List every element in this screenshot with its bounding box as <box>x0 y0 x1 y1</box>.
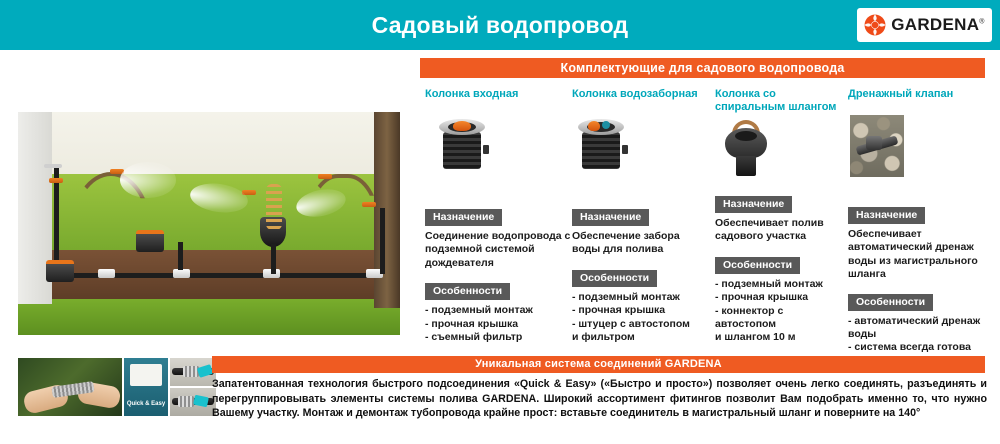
page-title: Садовый водопровод <box>0 0 1000 50</box>
feature-item: воды <box>848 328 988 341</box>
product-stem <box>736 156 756 176</box>
product-opening <box>735 131 757 141</box>
section-banner: Комплектующие для садового водопровода <box>420 58 985 78</box>
purpose-label-2: Назначение <box>572 209 649 226</box>
product-outlet-nub <box>622 145 628 154</box>
purpose-label-1: Назначение <box>425 209 502 226</box>
gardena-logo-text: GARDENA® <box>891 15 985 35</box>
product-title-4: Дренажный клапан <box>848 88 988 101</box>
hero-water-spray <box>120 162 176 198</box>
purpose-label-3: Назначение <box>715 196 792 213</box>
product-title-2: Колонка водозаборная <box>572 88 707 101</box>
feature-item: - подземный монтаж <box>715 278 843 291</box>
purpose-text-2: Обеспечение забора воды для полива <box>572 230 707 257</box>
hero-pipe-fitting <box>98 269 115 278</box>
hero-intake-column <box>136 230 164 252</box>
features-label-4: Особенности <box>848 294 933 311</box>
feature-item: - штуцер с автостопом <box>572 318 707 331</box>
hero-riser <box>380 208 385 274</box>
thumbnail-hands-connector <box>18 358 122 416</box>
feature-item: - съемный фильтр <box>425 331 575 344</box>
features-label-2: Особенности <box>572 270 657 287</box>
purpose-text-1: Соединение водопровода с подземной систе… <box>425 230 575 270</box>
product-column-2: Колонка водозаборная Назначение Обеспече… <box>572 88 707 344</box>
product-teal-fitting <box>602 121 610 129</box>
features-label-3: Особенности <box>715 257 800 274</box>
product-image-inlet-column <box>425 119 575 201</box>
product-column-4: Дренажный клапан Назначение Обеспечивает… <box>848 88 988 368</box>
gardena-flower-icon <box>864 14 886 36</box>
hero-inlet-column <box>46 260 74 282</box>
product-column-1: Колонка входная Назначение Соединение во… <box>425 88 575 344</box>
product-title-3: Колонка со спиральным шлангом <box>715 88 843 114</box>
hero-tap <box>44 164 62 168</box>
thumbnail-connector-closeup-2 <box>170 388 216 416</box>
gardena-logo: GARDENA® <box>857 8 992 42</box>
feature-item: и фильтром <box>572 331 707 344</box>
product-image-water-intake-column <box>572 119 707 201</box>
feature-item: - прочная крышка <box>572 304 707 317</box>
teal-fitting <box>197 364 213 378</box>
product-orange-insert <box>453 121 471 131</box>
feature-item: - система всегда готова <box>848 341 988 354</box>
purpose-text-3: Обеспечивает полив садового участка <box>715 217 843 244</box>
product-body <box>443 132 481 169</box>
footer-paragraph: Запатентованная технология быстрого подс… <box>212 377 987 421</box>
product-image-spiral-hose-column <box>715 120 843 188</box>
feature-item: - прочная крышка <box>715 291 843 304</box>
logo-wordmark: GARDENA <box>891 15 979 34</box>
thumbnail-quick-easy-badge: Quick & Easy <box>124 358 168 416</box>
hero-illustration <box>18 112 400 335</box>
feature-item: - подземный монтаж <box>572 291 707 304</box>
badge-illustration <box>130 364 162 386</box>
product-outlet-nub <box>483 145 489 154</box>
hero-riser <box>271 244 276 274</box>
product-orange-insert <box>588 121 600 131</box>
hero-riser <box>178 242 183 270</box>
teal-fitting <box>193 395 209 408</box>
feature-item: - прочная крышка <box>425 318 575 331</box>
hero-foreground-grass <box>18 299 400 335</box>
feature-item: и шлангом 10 м <box>715 331 843 344</box>
connector-grip <box>178 396 194 407</box>
features-list-3: - подземный монтаж - прочная крышка - ко… <box>715 278 843 345</box>
hero-sprayer <box>318 174 332 179</box>
features-label-1: Особенности <box>425 283 510 300</box>
registered-mark: ® <box>979 18 984 25</box>
hero-spiral-hose <box>266 184 282 230</box>
product-column-3: Колонка со спиральным шлангом Назначение… <box>715 88 843 345</box>
feature-item: - автоматический дренаж <box>848 315 988 328</box>
page-header: Садовый водопровод GARDENA® <box>0 0 1000 50</box>
product-image-drainage-valve <box>848 115 988 203</box>
hero-pipe-fitting <box>173 269 190 278</box>
unique-system-banner: Уникальная система соединений GARDENA <box>212 356 985 373</box>
feature-item: - подземный монтаж <box>425 304 575 317</box>
thumbnail-connector-closeup-1 <box>170 358 216 386</box>
hero-connector <box>49 178 63 183</box>
feature-item: - коннектор с автостопом <box>715 305 843 332</box>
badge-caption: Quick & Easy <box>124 401 168 408</box>
poster-page: Садовый водопровод GARDENA® <box>0 0 1000 444</box>
features-list-2: - подземный монтаж - прочная крышка - шт… <box>572 291 707 345</box>
purpose-label-4: Назначение <box>848 207 925 224</box>
purpose-text-4: Обеспечивает автоматический дренаж воды … <box>848 228 988 282</box>
product-title-1: Колонка входная <box>425 88 575 101</box>
product-valve-head <box>866 136 882 150</box>
features-list-1: - подземный монтаж - прочная крышка - съ… <box>425 304 575 344</box>
product-body <box>582 132 620 169</box>
